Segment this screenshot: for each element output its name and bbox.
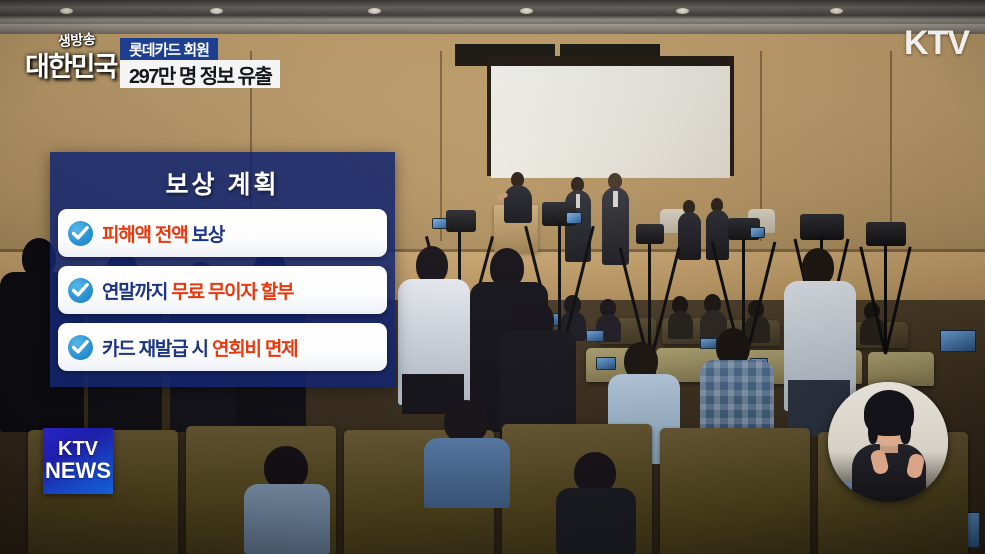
panel-rows: 피해액 전액 보상 연말까지 무료 무이자 할부 [58,209,387,380]
ktv-news-logo-line1: KTV [58,439,98,460]
ktv-news-logo-line2: NEWS [45,460,111,483]
plan-item-highlight: 연회비 면제 [212,339,297,360]
plan-item-highlight: 무료 무이자 할부 [171,282,293,303]
laptop-screen [700,338,717,349]
headline-kicker-text: 롯데카드 회원 [129,39,209,60]
ceiling-light [520,8,533,14]
channel-watermark: KTV [904,24,969,63]
plan-item-highlight: 피해액 전액 [102,225,187,246]
plan-item: 피해액 전액 보상 [58,209,387,257]
ceiling-light [830,8,843,14]
ktv-news-logo: KTV NEWS [43,428,113,494]
ceiling-light [676,8,689,14]
laptop-screen [596,357,616,370]
auditorium-seat [660,428,810,554]
plan-item: 카드 재발급 시 연회비 면제 [58,323,387,371]
compensation-plan-panel: 보상 계획 피해액 전액 보상 연말 [50,152,395,387]
projector-screen [491,66,730,178]
laptop-screen [586,330,604,342]
check-circle-icon [68,221,93,246]
program-title: 대한민국 [25,45,116,84]
plan-item-lead: 연말까지 [102,282,167,303]
check-circle-icon [68,278,93,303]
headline-kicker: 롯데카드 회원 [120,38,218,60]
headline-main: 297만 명 정보 유출 [120,60,280,88]
plan-item: 연말까지 무료 무이자 할부 [58,266,387,314]
check-circle-icon [68,335,93,360]
sign-language-interpreter-inset [828,382,948,502]
ceiling-light [368,8,381,14]
interpreter-hair [864,390,914,436]
headline-main-text: 297만 명 정보 유출 [129,60,271,89]
wall-seam [890,51,892,241]
camera-tripod [856,222,914,354]
plan-item-rest: 보상 [192,225,225,246]
panel-title: 보상 계획 [50,165,395,201]
ceiling-light [210,8,223,14]
ceiling-light [60,8,73,14]
plan-item-lead: 카드 재발급 시 [102,339,208,360]
broadcast-screen: 생방송 대한민국 롯데카드 회원 297만 명 정보 유출 KTV 보상 계획 … [0,0,985,554]
auditorium-seat [868,352,934,386]
laptop-screen [940,330,976,352]
